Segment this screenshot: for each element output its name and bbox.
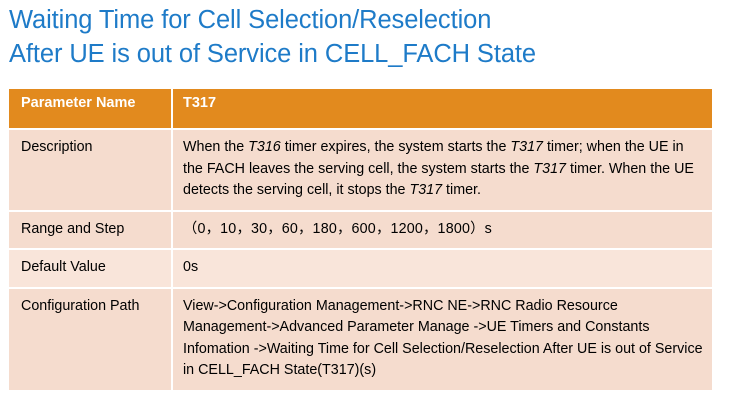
row-value-default-value: 0s: [172, 249, 712, 288]
page-title-line-2: After UE is out of Service in CELL_FACH …: [9, 37, 721, 71]
table-header-label: Parameter Name: [9, 89, 172, 129]
row-label-range-and-step: Range and Step: [9, 211, 172, 250]
row-value-configuration-path: View->Configuration Management->RNC NE->…: [172, 288, 712, 390]
page-title: Waiting Time for Cell Selection/Reselect…: [9, 3, 721, 71]
row-label-default-value: Default Value: [9, 249, 172, 288]
table-header-value: T317: [172, 89, 712, 129]
row-label-description: Description: [9, 129, 172, 211]
page-title-line-1: Waiting Time for Cell Selection/Reselect…: [9, 3, 721, 37]
table-row: Default Value 0s: [9, 249, 712, 288]
table-row: Description When the T316 timer expires,…: [9, 129, 712, 211]
table-header-row: Parameter Name T317: [9, 89, 712, 129]
row-value-range-and-step: （0，10，30，60，180，600，1200，1800）s: [172, 211, 712, 250]
table-row: Configuration Path View->Configuration M…: [9, 288, 712, 390]
row-value-description: When the T316 timer expires, the system …: [172, 129, 712, 211]
row-label-configuration-path: Configuration Path: [9, 288, 172, 390]
table-row: Range and Step （0，10，30，60，180，600，1200，…: [9, 211, 712, 250]
parameter-table: Parameter Name T317 Description When the…: [9, 89, 712, 390]
slide-canvas: Waiting Time for Cell Selection/Reselect…: [0, 0, 730, 414]
